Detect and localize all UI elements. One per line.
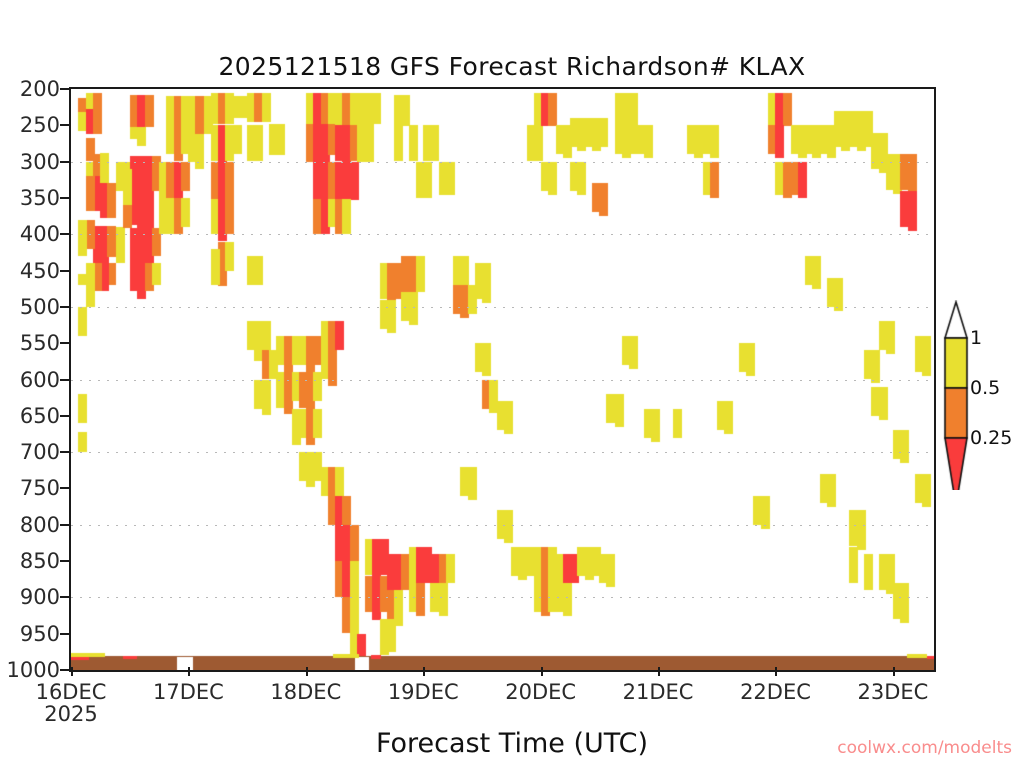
y-tick-label-450: 450 [20,259,60,283]
y-tick-label-700: 700 [20,440,60,464]
y-tick-mark-800 [60,524,69,526]
colorbar-label-1: 1 [970,327,982,349]
colorbar-legend: 10.50.25 [941,300,1024,490]
y-tick-mark-450 [60,270,69,272]
x-tick-mark-20DEC [541,667,543,676]
y-tick-mark-900 [60,596,69,598]
y-tick-mark-400 [60,233,69,235]
y-tick-mark-650 [60,415,69,417]
y-tick-label-200: 200 [20,77,60,101]
y-tick-label-650: 650 [20,404,60,428]
chart-page: 2025121518 GFS Forecast Richardson# KLAX… [0,0,1024,768]
y-tick-label-350: 350 [20,186,60,210]
y-tick-label-250: 250 [20,113,60,137]
y-tick-label-500: 500 [20,295,60,319]
y-tick-label-900: 900 [20,585,60,609]
page-title: 2025121518 GFS Forecast Richardson# KLAX [0,52,1024,81]
x-axis: 16DEC202517DEC18DEC19DEC20DEC21DEC22DEC2… [0,676,1024,736]
x-tick-label-20DEC: 20DEC [505,680,576,704]
richardson-heatmap [71,89,934,670]
x-tick-sublabel-2025: 2025 [44,702,97,726]
x-tick-label-19DEC: 19DEC [388,680,459,704]
y-tick-mark-600 [60,379,69,381]
y-tick-mark-750 [60,487,69,489]
plot-area [69,87,936,672]
y-tick-label-400: 400 [20,222,60,246]
x-tick-label-22DEC: 22DEC [740,680,811,704]
y-tick-label-300: 300 [20,150,60,174]
y-tick-mark-1000 [60,669,69,671]
y-tick-mark-350 [60,197,69,199]
y-tick-mark-500 [60,306,69,308]
y-tick-mark-250 [60,124,69,126]
y-tick-mark-700 [60,451,69,453]
x-tick-label-17DEC: 17DEC [153,680,224,704]
gridline-1000 [71,670,934,671]
colorbar-label-0.25: 0.25 [970,427,1012,449]
x-tick-mark-16DEC [71,667,73,676]
x-tick-mark-23DEC [893,667,895,676]
y-tick-label-800: 800 [20,513,60,537]
x-tick-mark-18DEC [306,667,308,676]
colorbar-label-0.5: 0.5 [970,377,1000,399]
watermark: coolwx.com/modelts [837,738,1012,758]
x-tick-label-16DEC: 16DEC [36,680,107,704]
x-tick-label-23DEC: 23DEC [857,680,928,704]
colorbar-swatches [941,300,971,490]
y-tick-label-750: 750 [20,476,60,500]
y-tick-label-950: 950 [20,622,60,646]
x-tick-mark-19DEC [423,667,425,676]
x-tick-label-18DEC: 18DEC [270,680,341,704]
y-tick-label-850: 850 [20,549,60,573]
y-tick-label-550: 550 [20,331,60,355]
y-tick-mark-550 [60,342,69,344]
y-tick-mark-200 [60,88,69,90]
x-tick-mark-21DEC [658,667,660,676]
x-tick-mark-17DEC [188,667,190,676]
y-tick-mark-950 [60,633,69,635]
x-tick-label-21DEC: 21DEC [623,680,694,704]
y-axis: 2002503003504004505005506006507007508008… [0,87,60,672]
y-tick-label-600: 600 [20,368,60,392]
y-tick-mark-300 [60,161,69,163]
x-tick-mark-22DEC [775,667,777,676]
y-tick-mark-850 [60,560,69,562]
